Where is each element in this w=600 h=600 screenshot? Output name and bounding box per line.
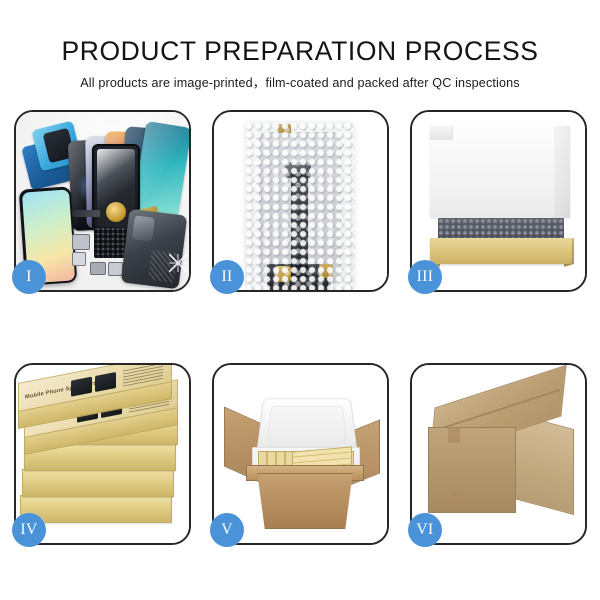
process-step-5: V (212, 363, 389, 545)
white-foam-lid-icon (430, 126, 570, 218)
step-2-image (214, 112, 387, 290)
phone-housing-icon (121, 209, 188, 290)
step-6-image (412, 365, 585, 543)
carton-tape-lower (452, 491, 464, 505)
step-3-image (412, 112, 585, 290)
carton-tape-upper (448, 427, 460, 443)
process-step-2: II (212, 110, 389, 292)
process-step-1: I (14, 110, 191, 292)
step-badge-1: I (12, 260, 46, 294)
process-step-6: VI (410, 363, 587, 545)
step-badge-2: II (210, 260, 244, 294)
step-badge-4: IV (12, 513, 46, 547)
box-stack-icon: Mobile Phone Spare Parts Mobile Phone Sp… (16, 377, 189, 537)
process-step-4: Mobile Phone Spare Parts Mobile Phone Sp… (14, 363, 191, 545)
carton-front-panel (252, 473, 358, 529)
kraft-box-icon (430, 238, 572, 264)
step-1-image (16, 112, 189, 290)
foam-case-lid-icon (256, 398, 358, 453)
sealed-carton-icon (426, 383, 576, 529)
step-badge-6: VI (408, 513, 442, 547)
page-title: PRODUCT PREPARATION PROCESS (0, 0, 600, 65)
process-step-3: III (410, 110, 587, 292)
step-badge-3: III (408, 260, 442, 294)
page-subtitle: All products are image-printed，film-coat… (0, 65, 600, 90)
poster-root: PRODUCT PREPARATION PROCESS All products… (0, 0, 600, 600)
sparkle-icon (169, 254, 187, 272)
poster-header: PRODUCT PREPARATION PROCESS All products… (0, 0, 600, 89)
printed-box-upper: Mobile Phone Spare Parts (18, 383, 170, 427)
step-4-image: Mobile Phone Spare Parts Mobile Phone Sp… (16, 365, 189, 543)
step-5-image (214, 365, 387, 543)
carton-front-face (428, 427, 516, 513)
bubble-texture-highlight (245, 122, 355, 290)
process-step-grid: I II (14, 110, 586, 545)
step-badge-5: V (210, 513, 244, 547)
bubble-wrap-package-icon (245, 122, 355, 290)
open-carton-icon (222, 389, 382, 535)
